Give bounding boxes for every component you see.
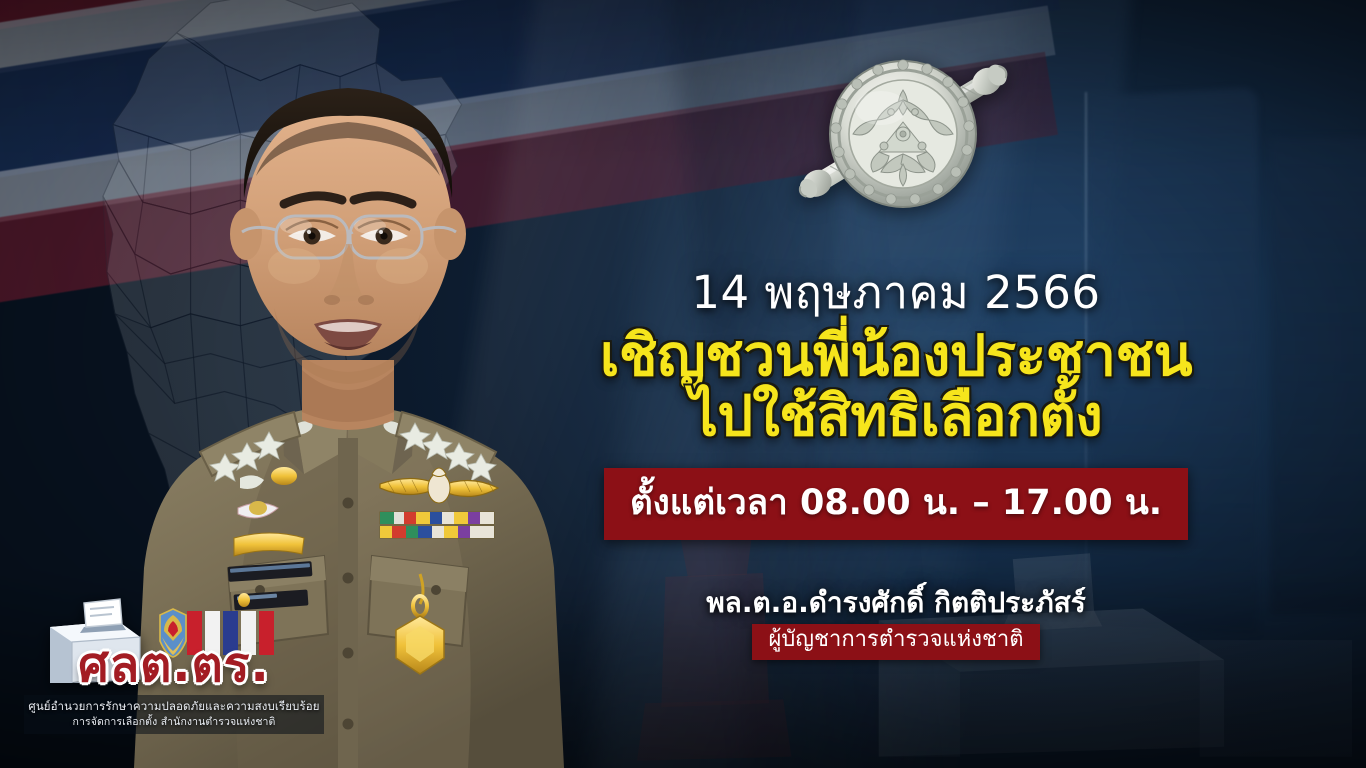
- announcement-panel: 14 พฤษภาคม 2566 เชิญชวนพี่น้องประชาชน ไป…: [566, 268, 1226, 660]
- voting-hours-banner: ตั้งแต่เวลา 08.00 น. – 17.00 น.: [604, 468, 1188, 540]
- sltr-logo: ศลต.ตร. ศูนย์อำนวยการรักษาความปลอดภัยและ…: [24, 601, 324, 734]
- signer-title: ผู้บัญชาการตำรวจแห่งชาติ: [752, 624, 1039, 660]
- election-announcement-poster: 14 พฤษภาคม 2566 เชิญชวนพี่น้องประชาชน ไป…: [0, 0, 1366, 768]
- logo-subtitle: ศูนย์อำนวยการรักษาความปลอดภัยและความสงบเ…: [24, 695, 324, 734]
- signer-name: พล.ต.อ.ดำรงศักดิ์ กิตติประภัสร์: [566, 586, 1226, 620]
- logo-graphics-row: ศลต.ตร.: [24, 601, 324, 683]
- headline-line-1: เชิญชวนพี่น้องประชาชน: [566, 326, 1226, 388]
- logo-subtitle-line-2: การจัดการเลือกตั้ง สำนักงานตำรวจแห่งชาติ: [28, 715, 320, 730]
- royal-thai-police-emblem-icon: [778, 22, 1028, 247]
- logo-subtitle-line-1: ศูนย์อำนวยการรักษาความปลอดภัยและความสงบเ…: [28, 698, 320, 715]
- signer-block: พล.ต.อ.ดำรงศักดิ์ กิตติประภัสร์ ผู้บัญชา…: [566, 586, 1226, 660]
- headline-block: เชิญชวนพี่น้องประชาชน ไปใช้สิทธิเลือกตั้…: [566, 326, 1226, 448]
- headline-line-2: ไปใช้สิทธิเลือกตั้ง: [566, 387, 1226, 447]
- logo-acronym: ศลต.ตร.: [24, 627, 324, 703]
- election-date: 14 พฤษภาคม 2566: [566, 268, 1226, 318]
